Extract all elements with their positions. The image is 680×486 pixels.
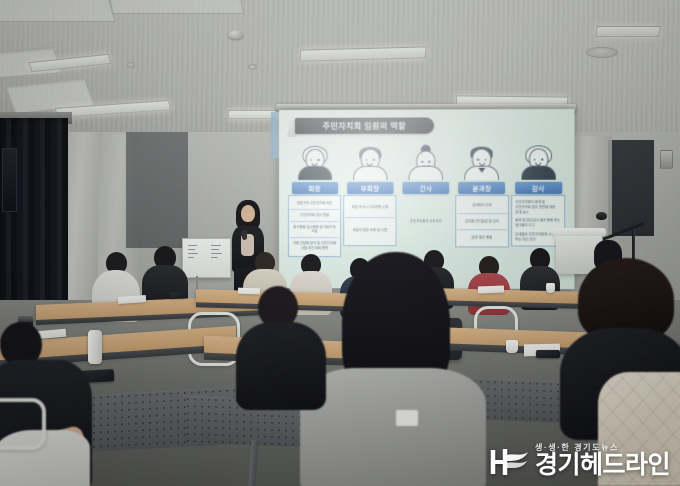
role-detail-item: 대표자의 주민자치회 대표 — [290, 198, 339, 210]
whiteboard-writing — [211, 245, 221, 246]
whiteboard — [182, 238, 231, 278]
photograph-container: 주민자치회 임원의 역할 회장 — [0, 0, 680, 486]
ceiling-light-panel — [595, 26, 661, 37]
wall-speaker-icon — [660, 150, 673, 169]
avatar-icon — [518, 145, 559, 179]
role-badge: 회장 — [291, 182, 337, 194]
smoke-detector-icon — [228, 30, 243, 39]
avatar-body — [409, 166, 443, 180]
avatar-eye — [541, 159, 543, 161]
avatar-eye — [477, 159, 479, 161]
chair[interactable] — [0, 398, 46, 450]
role-detail-box: 분과회의 주재 분과별 안건발굴 및 심의 분과 업무 총괄 — [455, 195, 509, 248]
whiteboard-writing — [211, 249, 219, 250]
ceiling-vent — [248, 64, 257, 70]
ceiling-vent — [586, 47, 618, 58]
role-badge-label: 간사 — [420, 183, 433, 193]
role-detail-item: 주민자치회의 사무처리 — [401, 197, 451, 246]
slide-title-text: 주민자치회 임원의 역할 — [323, 120, 406, 131]
watermark-tagline: 생·생·한 경기도뉴스 — [535, 442, 619, 453]
ceiling-panel — [108, 0, 244, 14]
whiteboard-writing — [188, 249, 195, 250]
wall-recess — [126, 132, 188, 248]
watermark-name: 경기헤드라인 — [535, 454, 670, 478]
role-detail-item: 주민자치회 업무 총괄 — [290, 210, 339, 222]
wall-fixture — [2, 148, 17, 212]
role-detail-item: 분과회의 주재 — [457, 198, 507, 214]
avatar-body — [521, 166, 556, 180]
role-detail-item: 분과 업무 총괄 — [457, 230, 507, 245]
whiteboard-writing — [188, 253, 198, 254]
role-badge: 분과장 — [458, 182, 505, 194]
avatar-eye — [366, 159, 368, 161]
avatar-eye — [429, 161, 431, 163]
role-detail-box: 주민자치회의 사무처리 — [400, 195, 452, 248]
role-column: 부회장 회장 공석시 직무대행 수행 회장의 업무 보좌 및 지원 — [344, 146, 395, 246]
role-detail-item: 주민자치회의 회계 및 주민자치회 업무 전반에 대한 감사 실시 — [513, 198, 563, 217]
avatar-eye — [373, 159, 375, 161]
avatar-icon — [294, 146, 334, 180]
smartphone — [536, 350, 560, 358]
role-detail-box: 회장 공석시 직무대행 수행 회장의 업무 보좌 및 지원 — [343, 195, 396, 246]
role-column: 간사 주민자치회의 사무처리 — [400, 146, 452, 249]
role-column: 분과장 분과회의 주재 분과별 안건발굴 및 심의 분과 업무 총괄 — [456, 145, 508, 247]
role-detail-item: 분과별 안건발굴 및 심의 — [457, 214, 507, 230]
slide-title-bar: 주민자치회 임원의 역할 — [295, 117, 434, 133]
paper-cup — [546, 283, 555, 293]
role-detail-box: 대표자의 주민자치회 대표 주민자치회 업무 총괄 회기총회·임시총회·정기회의… — [288, 195, 341, 257]
ceiling-vent — [127, 62, 135, 68]
whiteboard-writing — [211, 257, 218, 258]
jacket — [236, 322, 326, 410]
avatar-icon — [462, 145, 503, 179]
role-badge-label: 회장 — [308, 183, 320, 193]
clothing-tag — [396, 410, 418, 426]
avatar-eye — [485, 159, 487, 161]
paper-cup — [506, 340, 518, 353]
avatar-eye — [310, 159, 312, 161]
smartphone — [170, 292, 186, 299]
avatar-eye — [317, 159, 319, 161]
role-badge: 간사 — [403, 182, 450, 194]
whiteboard-writing — [188, 245, 197, 246]
whiteboard-writing — [211, 253, 222, 254]
watermark: 생·생·한 경기도뉴스 경기헤드라인 — [490, 442, 670, 478]
microphone-icon — [596, 212, 607, 220]
whiteboard-writing — [188, 257, 194, 258]
role-badge: 부회장 — [347, 182, 393, 194]
handheld-microphone-icon — [242, 230, 247, 240]
role-detail-item: 회장 공석시 직무대행 수행 — [345, 198, 394, 218]
gray-hoodie — [300, 368, 486, 486]
role-column: 회장 대표자의 주민자치회 대표 주민자치회 업무 총괄 회기총회·임시총회·정… — [289, 146, 340, 257]
role-detail-item: 회장의 업무 보좌 및 지원 — [345, 218, 394, 243]
watermark-logo-icon — [490, 446, 530, 478]
wall-panel-dark — [608, 140, 654, 236]
ceiling-panel — [0, 0, 116, 22]
avatar-body — [353, 166, 387, 180]
avatar-icon — [350, 146, 390, 180]
avatar-icon — [406, 146, 446, 180]
presenter-head — [241, 205, 255, 222]
role-badge-label: 부회장 — [361, 183, 380, 193]
role-badge-label: 분과장 — [472, 183, 491, 193]
avatar-eye — [421, 161, 423, 163]
logo-svg — [490, 446, 530, 478]
audience-member-foreground — [300, 252, 486, 486]
audience-member-foreground — [236, 286, 326, 406]
avatar-body — [298, 166, 332, 180]
watermark-text: 생·생·한 경기도뉴스 경기헤드라인 — [535, 442, 670, 478]
role-badge: 감사 — [515, 182, 562, 194]
role-detail-item: 회기총회·임시총회·정기회의 등 소집 — [290, 222, 339, 239]
role-badge-label: 감사 — [532, 183, 545, 193]
avatar-eye — [534, 159, 536, 161]
podium-top — [552, 228, 606, 236]
